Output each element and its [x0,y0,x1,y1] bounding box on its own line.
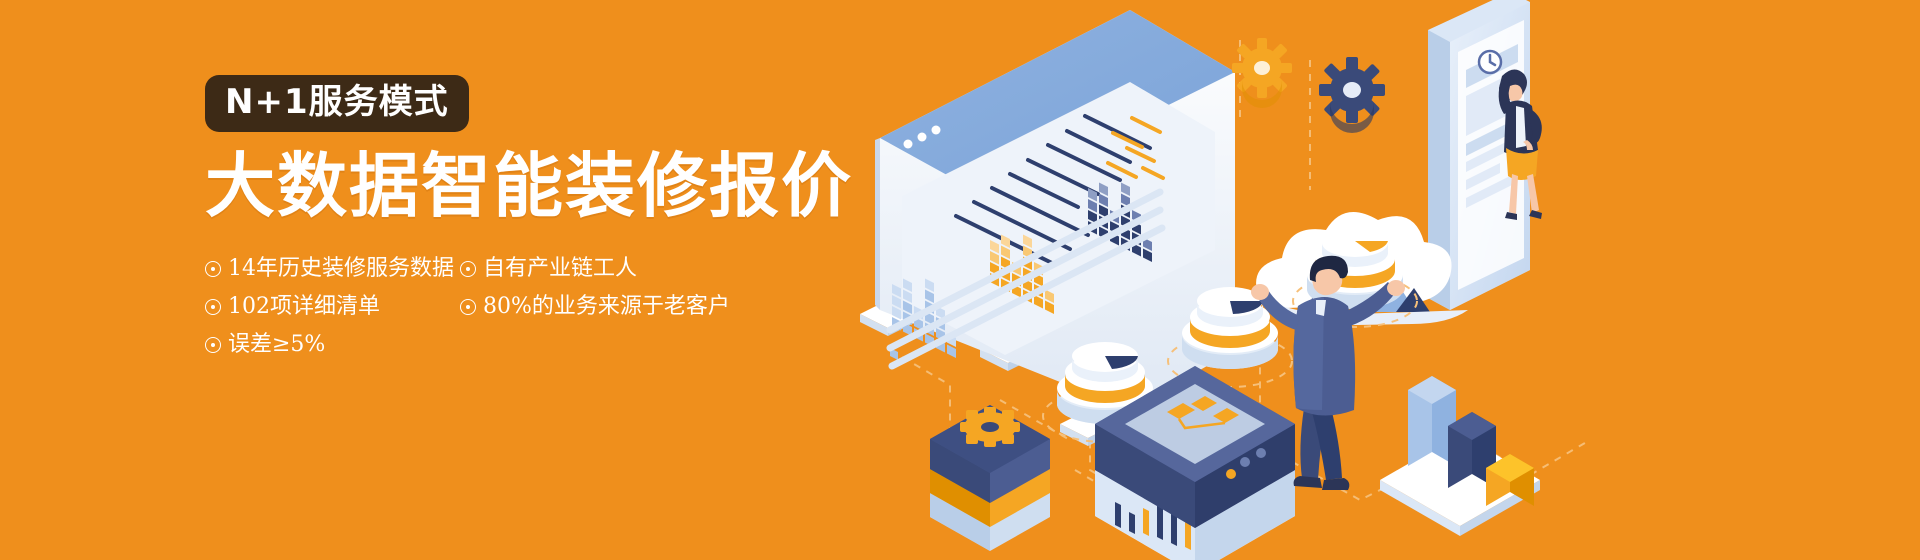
feature-label: 80%的业务来源于老客户 [483,296,730,318]
isometric-big-data-illustration [830,0,1920,560]
list-item: 80%的业务来源于老客户 [460,288,790,326]
banner-copy: N+1服务模式 大数据智能装修报价 14年历史装修服务数据 自有产业链工人 10… [205,75,925,364]
clock-icon [1479,51,1501,73]
list-item: 误差≥5% [205,326,460,364]
feature-label: 14年历史装修服务数据 [228,258,454,280]
circled-dot-icon [460,299,476,315]
circled-dot-icon [205,261,221,277]
circled-dot-icon [205,299,221,315]
gear-icon [960,407,1020,447]
circled-dot-icon [205,337,221,353]
feature-label: 102项详细清单 [228,296,380,318]
promo-banner: N+1服务模式 大数据智能装修报价 14年历史装修服务数据 自有产业链工人 10… [0,0,1920,560]
feature-label: 误差≥5% [228,334,325,356]
feature-list: 14年历史装修服务数据 自有产业链工人 102项详细清单 80%的业务来源于老客… [205,250,865,364]
circled-dot-icon [460,261,476,277]
list-item: 自有产业链工人 [460,250,790,288]
service-mode-badge: N+1服务模式 [205,75,469,132]
bar-column-chart [1380,376,1540,536]
browser-window-dashboard [875,10,1235,410]
list-item: 14年历史装修服务数据 [205,250,460,288]
page-title: 大数据智能装修报价 [205,150,925,224]
hex-gear-block [930,405,1050,551]
gear-navy [1319,57,1385,133]
feature-label: 自有产业链工人 [483,258,637,280]
list-item: 102项详细清单 [205,288,460,326]
